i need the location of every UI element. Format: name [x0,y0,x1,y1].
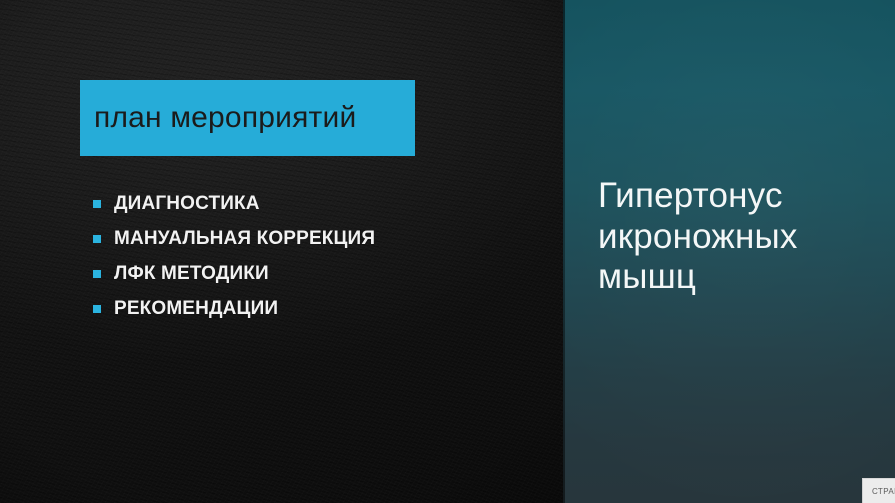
slide-canvas: план мероприятий ДИАГНОСТИКА МАНУАЛЬНАЯ … [0,0,895,503]
list-item-label: РЕКОМЕНДАЦИИ [114,298,278,320]
list-item-label: ЛФК МЕТОДИКИ [114,263,269,285]
page-indicator-label: СТРАН [872,487,895,496]
list-item: МАНУАЛЬНАЯ КОРРЕКЦИЯ [93,221,375,256]
list-item-label: ДИАГНОСТИКА [114,193,260,215]
square-bullet-icon [93,305,101,313]
panel-divider [563,0,565,503]
list-item-label: МАНУАЛЬНАЯ КОРРЕКЦИЯ [114,228,375,250]
slide-main-heading: Гипертонус икроножных мышц [598,176,888,298]
agenda-bullet-list: ДИАГНОСТИКА МАНУАЛЬНАЯ КОРРЕКЦИЯ ЛФК МЕТ… [93,186,375,326]
page-indicator-chip[interactable]: СТРАН [862,478,895,503]
section-title-box: план мероприятий [80,80,415,156]
list-item: РЕКОМЕНДАЦИИ [93,291,375,326]
section-title-text: план мероприятий [94,103,356,133]
square-bullet-icon [93,200,101,208]
list-item: ДИАГНОСТИКА [93,186,375,221]
square-bullet-icon [93,270,101,278]
list-item: ЛФК МЕТОДИКИ [93,256,375,291]
square-bullet-icon [93,235,101,243]
